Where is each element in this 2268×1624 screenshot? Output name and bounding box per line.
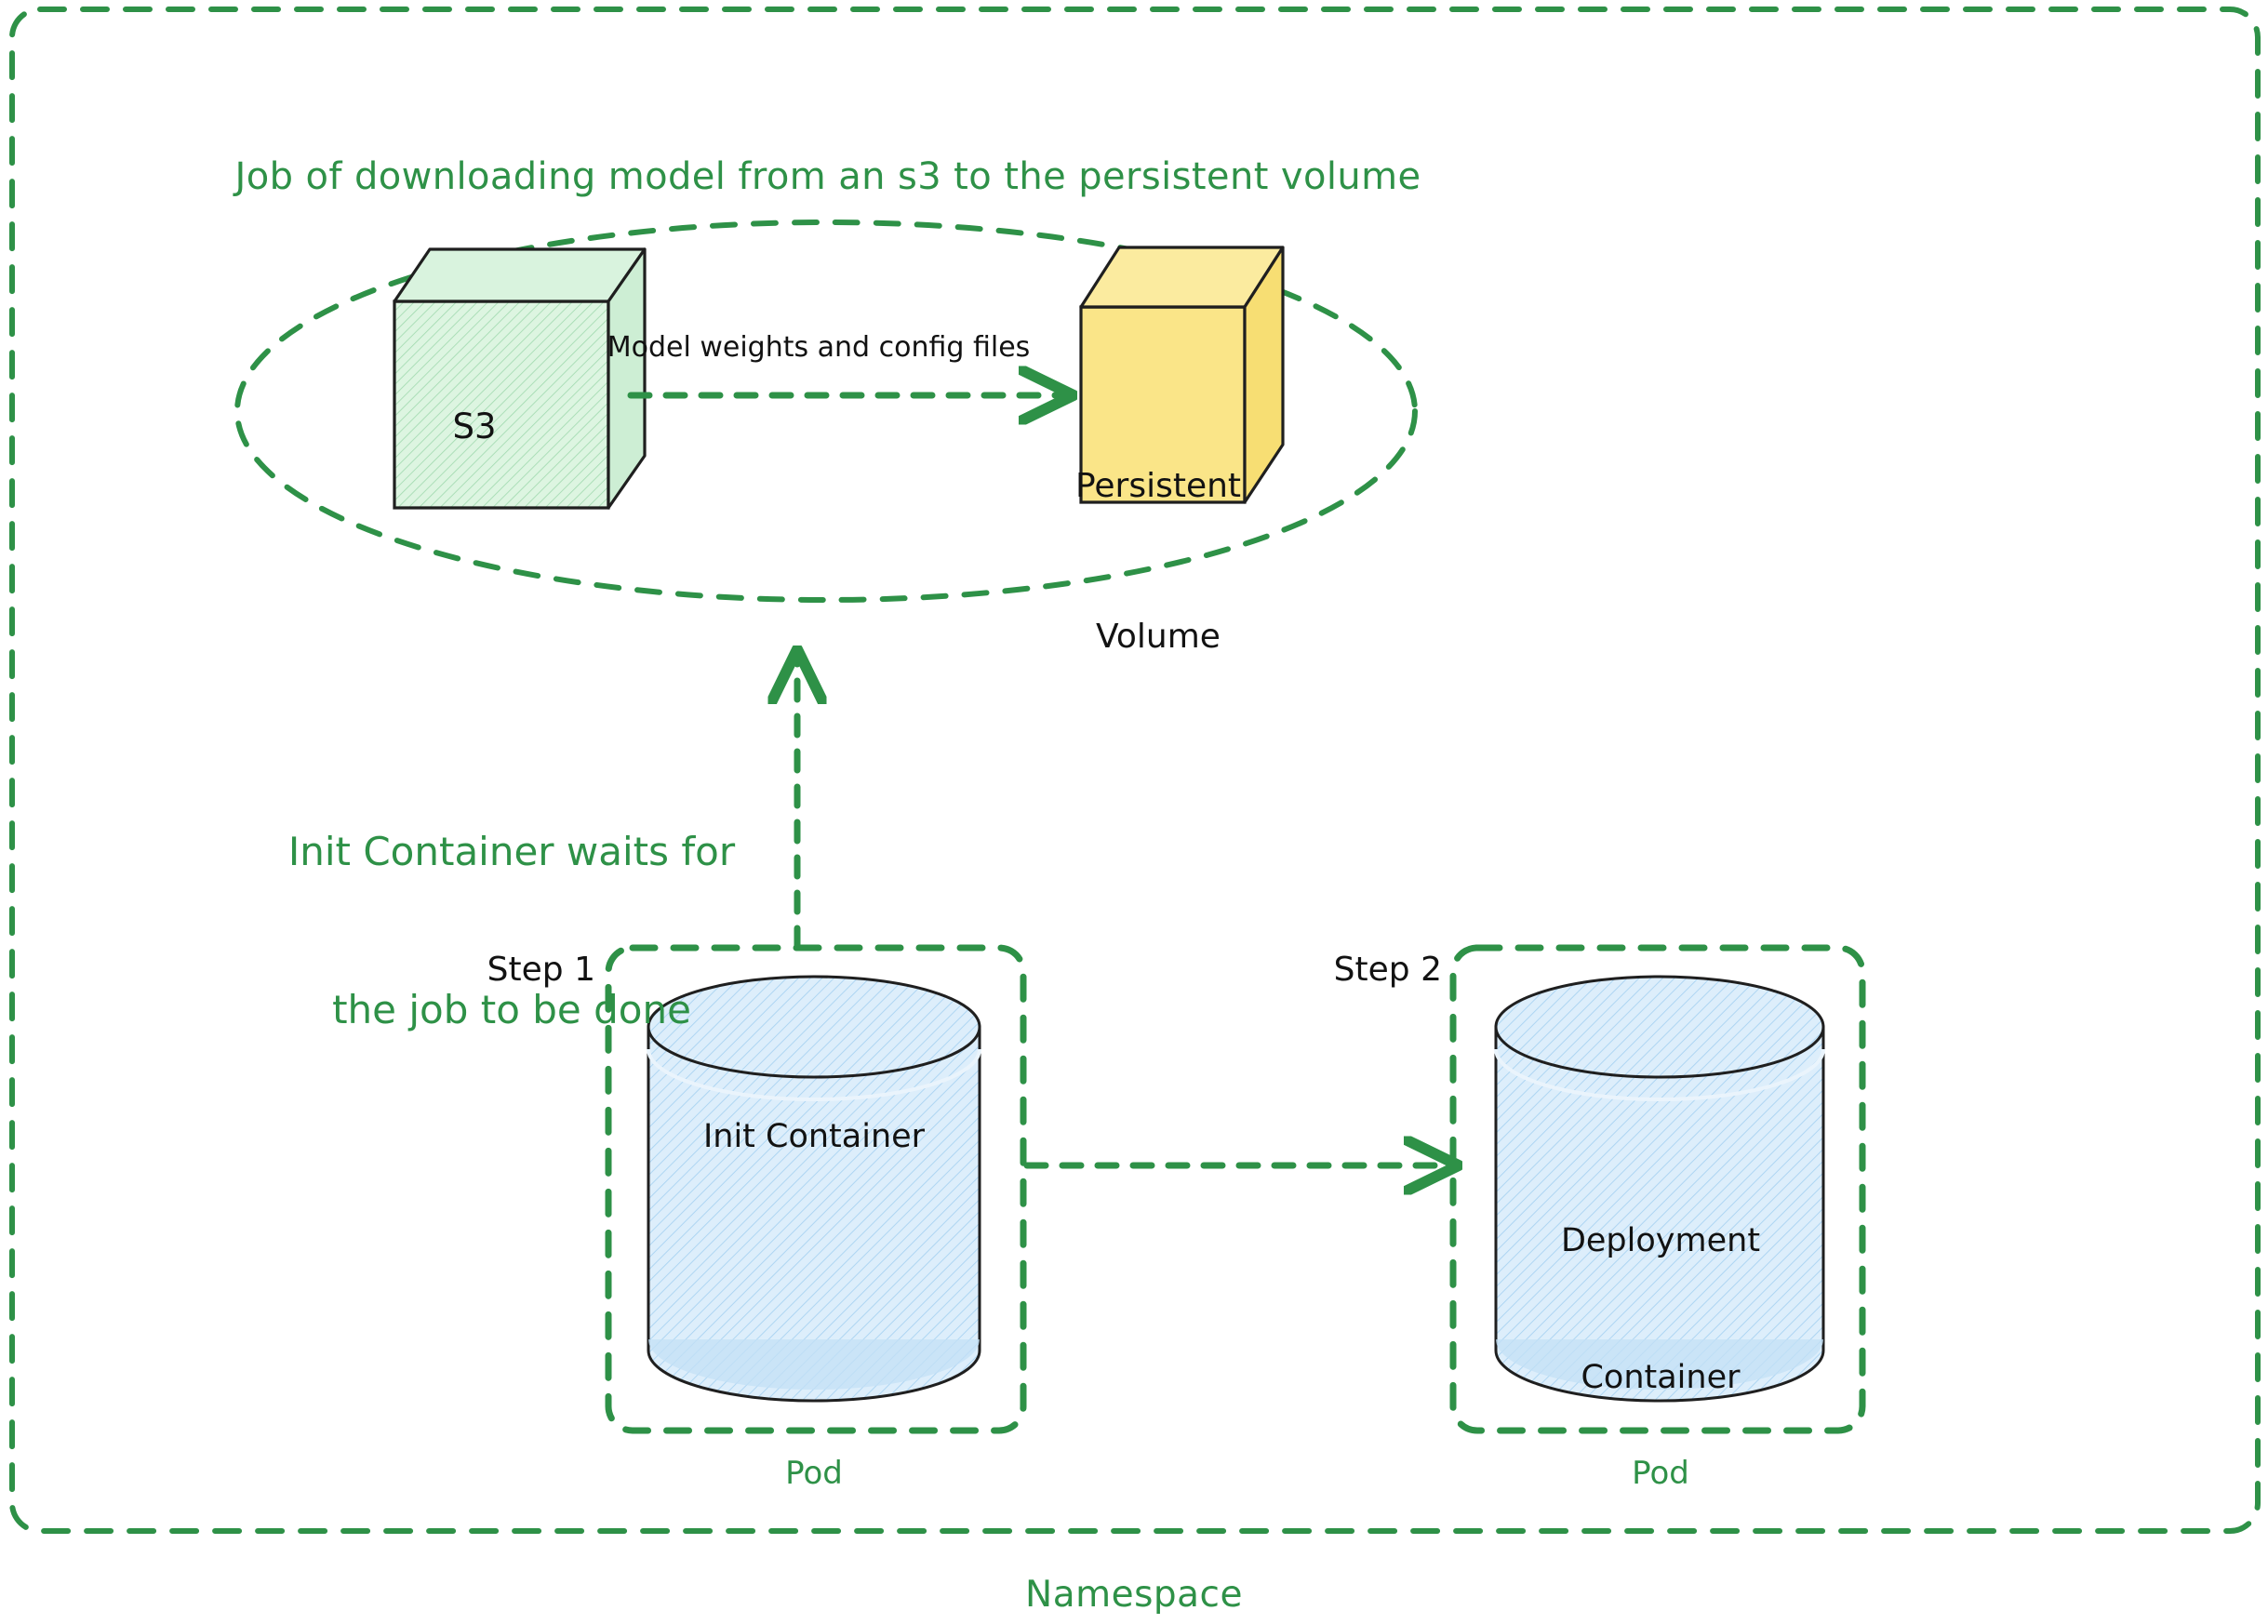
pod-1-label: Pod [633,1454,995,1495]
step-2-label: Step 2 [1265,949,1442,992]
pod-2-label: Pod [1479,1454,1842,1495]
step-1-label: Step 1 [419,949,595,992]
deployment-container-label-line2: Container [1479,1355,1842,1401]
persistent-volume-label-line2: Volume [1070,612,1247,662]
persistent-volume-label-line1: Persistent [1070,461,1247,512]
init-container-label: Init Container [633,1116,995,1158]
wait-edge-label-line1: Init Container waits for [233,826,791,879]
wait-edge-label-line2: the job to be done [233,984,791,1037]
edge-s3-to-pv-label: Model weights and config files [577,330,1061,366]
wait-edge-label: Init Container waits for the job to be d… [233,721,791,1143]
diagram-canvas: Job of downloading model from an s3 to t… [0,0,2268,1624]
deployment-container-label-line1: Deployment [1479,1218,1842,1264]
namespace-label: Namespace [0,1572,2268,1618]
deployment-container-label: Deployment Container [1479,1127,1842,1492]
s3-cube [394,249,645,508]
job-group-title: Job of downloading model from an s3 to t… [0,153,1656,201]
s3-node-label: S3 [372,405,577,448]
persistent-volume-node-label: Persistent Volume [1070,361,1247,763]
